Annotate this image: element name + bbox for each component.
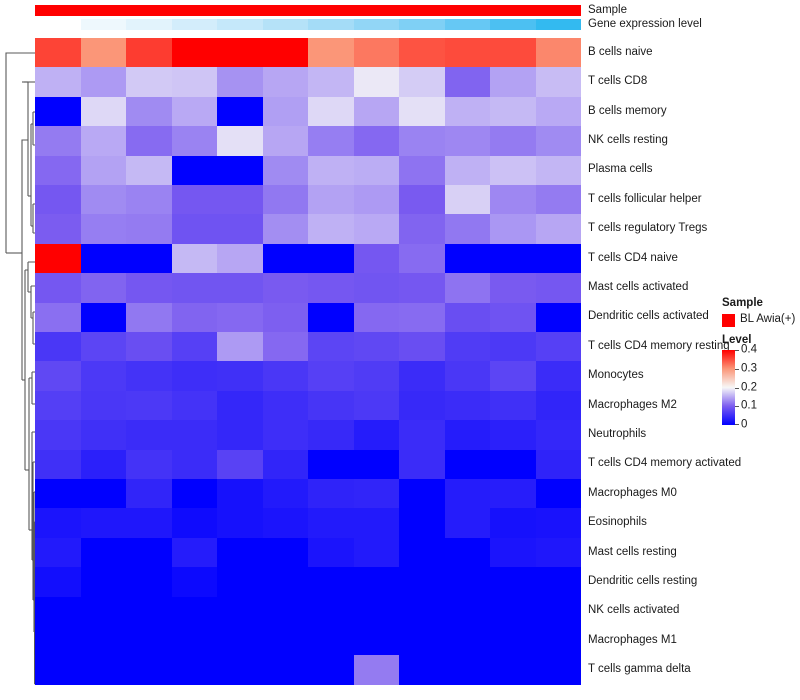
heatmap-cell: [172, 567, 218, 596]
heatmap-cell: [172, 420, 218, 449]
heatmap-cell: [490, 332, 536, 361]
heatmap-cell: [35, 185, 81, 214]
annotation-cell-sample: [399, 5, 445, 16]
heatmap-cell: [308, 508, 354, 537]
heatmap-cell: [536, 538, 582, 567]
annotation-label-sample: Sample: [588, 5, 627, 17]
row-label: Eosinophils: [588, 517, 647, 529]
heatmap-cell: [536, 655, 582, 684]
annotation-bar-gene-expression: [35, 19, 581, 30]
heatmap-cell: [35, 303, 81, 332]
heatmap-cell: [308, 303, 354, 332]
heatmap-cell: [263, 97, 309, 126]
heatmap-cell: [308, 538, 354, 567]
row-label: T cells CD4 memory activated: [588, 458, 741, 470]
heatmap-cell: [35, 156, 81, 185]
annotation-cell-gene-expression: [490, 19, 536, 30]
row-label: Mast cells resting: [588, 547, 677, 559]
heatmap-cell: [399, 655, 445, 684]
heatmap-cell: [217, 97, 263, 126]
heatmap-cell: [217, 332, 263, 361]
annotation-cell-sample: [217, 5, 263, 16]
heatmap-cell: [81, 626, 127, 655]
heatmap-cell: [172, 626, 218, 655]
heatmap-cell: [399, 156, 445, 185]
row-label: NK cells resting: [588, 135, 668, 147]
heatmap-cell: [490, 508, 536, 537]
heatmap-cell: [172, 273, 218, 302]
heatmap-cell: [354, 67, 400, 96]
heatmap-cell: [399, 332, 445, 361]
heatmap-cell: [536, 597, 582, 626]
heatmap-cell: [172, 156, 218, 185]
heatmap-cell: [126, 38, 172, 67]
heatmap-cell: [308, 38, 354, 67]
heatmap-cell: [35, 420, 81, 449]
legend-tick-mark: [735, 406, 739, 407]
row-label: Macrophages M1: [588, 635, 677, 647]
heatmap-cell: [35, 597, 81, 626]
heatmap-cell: [399, 126, 445, 155]
annotation-cell-gene-expression: [126, 19, 172, 30]
heatmap-cell: [308, 273, 354, 302]
heatmap-cell: [217, 391, 263, 420]
heatmap-cell: [81, 214, 127, 243]
heatmap-cell: [445, 244, 491, 273]
legend-swatch-sample: [722, 314, 735, 327]
heatmap-cell: [217, 244, 263, 273]
heatmap-cell: [490, 361, 536, 390]
heatmap-cell: [308, 479, 354, 508]
heatmap-cell: [490, 214, 536, 243]
heatmap-cell: [217, 361, 263, 390]
row-label: B cells memory: [588, 106, 667, 118]
heatmap-cell: [536, 567, 582, 596]
heatmap-cell: [81, 303, 127, 332]
annotation-cell-gene-expression: [308, 19, 354, 30]
heatmap-cell: [172, 38, 218, 67]
heatmap-cell: [399, 508, 445, 537]
legend: Sample BL Awia(+) Level 0.40.30.20.10: [722, 298, 800, 425]
heatmap-cell: [354, 303, 400, 332]
row-label: T cells CD4 naive: [588, 253, 678, 265]
heatmap-cell: [445, 655, 491, 684]
heatmap-cell: [126, 214, 172, 243]
row-label: Macrophages M2: [588, 400, 677, 412]
annotation-cell-sample: [35, 5, 81, 16]
heatmap-cell: [263, 67, 309, 96]
heatmap-cell: [308, 361, 354, 390]
heatmap-cell: [445, 332, 491, 361]
heatmap-cell: [399, 97, 445, 126]
heatmap-cell: [263, 214, 309, 243]
heatmap-cell: [172, 538, 218, 567]
heatmap-cell: [354, 450, 400, 479]
heatmap-cell: [217, 303, 263, 332]
heatmap-cell: [126, 391, 172, 420]
heatmap-cell: [263, 126, 309, 155]
heatmap-cell: [81, 38, 127, 67]
heatmap-cell: [308, 244, 354, 273]
heatmap-cell: [308, 185, 354, 214]
legend-colorbar: [722, 350, 735, 425]
heatmap-cell: [490, 97, 536, 126]
heatmap-cell: [490, 273, 536, 302]
heatmap-cell: [263, 597, 309, 626]
heatmap-cell: [399, 361, 445, 390]
heatmap-cell: [217, 626, 263, 655]
heatmap-cell: [172, 244, 218, 273]
legend-colorbar-wrap: 0.40.30.20.10: [722, 350, 800, 425]
heatmap-cell: [445, 450, 491, 479]
row-label: Macrophages M0: [588, 488, 677, 500]
heatmap-cell: [172, 597, 218, 626]
heatmap-cell: [263, 38, 309, 67]
heatmap-cell: [172, 450, 218, 479]
heatmap-cell: [35, 508, 81, 537]
heatmap-cell: [399, 273, 445, 302]
heatmap-cell: [354, 655, 400, 684]
annotation-cell-sample: [354, 5, 400, 16]
heatmap-cell: [35, 273, 81, 302]
heatmap-cell: [126, 626, 172, 655]
heatmap-cell: [399, 67, 445, 96]
row-label: Dendritic cells activated: [588, 311, 709, 323]
heatmap-cell: [35, 38, 81, 67]
heatmap-cell: [308, 156, 354, 185]
heatmap-cell: [126, 303, 172, 332]
heatmap-cell: [35, 214, 81, 243]
heatmap-cell: [126, 126, 172, 155]
heatmap-cell: [35, 567, 81, 596]
heatmap-cell: [490, 126, 536, 155]
heatmap-cell: [490, 538, 536, 567]
annotation-cell-gene-expression: [81, 19, 127, 30]
heatmap-cell: [308, 597, 354, 626]
heatmap-cell: [35, 332, 81, 361]
heatmap-cell: [354, 538, 400, 567]
heatmap-cell: [445, 185, 491, 214]
heatmap-cell: [263, 361, 309, 390]
legend-title-sample: Sample: [722, 298, 800, 310]
heatmap-cell: [126, 479, 172, 508]
heatmap-cell: [81, 655, 127, 684]
heatmap-cell: [81, 273, 127, 302]
heatmap-cell: [445, 303, 491, 332]
heatmap-cell: [217, 156, 263, 185]
heatmap-cell: [399, 391, 445, 420]
heatmap-cell: [445, 38, 491, 67]
heatmap-cell: [217, 655, 263, 684]
heatmap-cell: [35, 479, 81, 508]
row-label: Plasma cells: [588, 164, 653, 176]
heatmap-cell: [81, 97, 127, 126]
heatmap-cell: [490, 479, 536, 508]
heatmap-cell: [217, 450, 263, 479]
heatmap-cell: [263, 244, 309, 273]
heatmap-cell: [126, 597, 172, 626]
heatmap-cell: [536, 185, 582, 214]
heatmap-cell: [81, 361, 127, 390]
heatmap-cell: [536, 38, 582, 67]
heatmap-cell: [354, 156, 400, 185]
heatmap-cell: [263, 420, 309, 449]
heatmap-cell: [445, 420, 491, 449]
heatmap-cell: [172, 508, 218, 537]
heatmap-cell: [81, 332, 127, 361]
heatmap-cell: [490, 567, 536, 596]
heatmap-cell: [81, 597, 127, 626]
heatmap-cell: [536, 361, 582, 390]
row-label: T cells follicular helper: [588, 194, 702, 206]
heatmap-cell: [126, 361, 172, 390]
heatmap-cell: [490, 655, 536, 684]
row-label: T cells CD8: [588, 76, 647, 88]
heatmap-cell: [172, 332, 218, 361]
heatmap-cell: [536, 273, 582, 302]
heatmap-cell: [126, 508, 172, 537]
heatmap-cell: [263, 479, 309, 508]
heatmap-cell: [445, 597, 491, 626]
heatmap-cell: [354, 479, 400, 508]
heatmap-cell: [126, 332, 172, 361]
heatmap-cell: [126, 273, 172, 302]
heatmap-cell: [445, 126, 491, 155]
heatmap-cell: [536, 67, 582, 96]
heatmap-cell: [490, 303, 536, 332]
heatmap-cell: [490, 156, 536, 185]
legend-tick-label: 0.4: [741, 344, 757, 356]
heatmap-cell: [81, 450, 127, 479]
heatmap-cell: [217, 126, 263, 155]
heatmap-cell: [399, 597, 445, 626]
legend-tick-mark: [735, 369, 739, 370]
annotation-cell-sample: [172, 5, 218, 16]
heatmap-cell: [490, 420, 536, 449]
heatmap-cell: [445, 214, 491, 243]
annotation-cell-gene-expression: [263, 19, 309, 30]
heatmap-cell: [263, 303, 309, 332]
heatmap-cell: [172, 479, 218, 508]
heatmap-cell: [536, 214, 582, 243]
heatmap-cell: [445, 361, 491, 390]
legend-tick-mark: [735, 388, 739, 389]
heatmap-cell: [399, 479, 445, 508]
annotation-cell-gene-expression: [217, 19, 263, 30]
legend-entry-sample: BL Awia(+): [722, 314, 800, 327]
heatmap-cell: [263, 332, 309, 361]
heatmap-cell: [399, 214, 445, 243]
heatmap-cell: [354, 332, 400, 361]
heatmap-cell: [263, 185, 309, 214]
heatmap-cell: [81, 67, 127, 96]
heatmap-cell: [172, 185, 218, 214]
legend-label-sample: BL Awia(+): [740, 314, 795, 326]
heatmap-cell: [172, 67, 218, 96]
heatmap-cell: [81, 567, 127, 596]
heatmap-cell: [354, 97, 400, 126]
heatmap-cell: [217, 38, 263, 67]
heatmap-cell: [399, 538, 445, 567]
heatmap-cell: [536, 97, 582, 126]
heatmap-cell: [126, 244, 172, 273]
heatmap-cell: [536, 391, 582, 420]
heatmap-cell: [172, 303, 218, 332]
heatmap-cell: [445, 508, 491, 537]
heatmap-cell: [263, 156, 309, 185]
heatmap-cell: [354, 273, 400, 302]
heatmap-cell: [35, 391, 81, 420]
annotation-cell-gene-expression: [172, 19, 218, 30]
heatmap-cell: [354, 626, 400, 655]
heatmap-cell: [536, 156, 582, 185]
row-dendrogram: [0, 0, 36, 700]
heatmap-cell: [81, 391, 127, 420]
legend-tick-label: 0.2: [741, 382, 757, 394]
heatmap-cell: [217, 508, 263, 537]
heatmap-cell: [308, 126, 354, 155]
heatmap-cell: [126, 567, 172, 596]
legend-tick-label: 0: [741, 419, 747, 431]
annotation-cell-sample: [81, 5, 127, 16]
annotation-cell-gene-expression: [536, 19, 582, 30]
heatmap-cell: [263, 655, 309, 684]
heatmap-cell: [308, 420, 354, 449]
annotation-label-gene-expression: Gene expression level: [588, 19, 702, 31]
heatmap-cell: [445, 391, 491, 420]
heatmap-cell: [263, 273, 309, 302]
heatmap-cell: [126, 420, 172, 449]
heatmap-cell: [172, 391, 218, 420]
heatmap-cell: [354, 567, 400, 596]
heatmap-cell: [217, 567, 263, 596]
row-label: B cells naive: [588, 47, 653, 59]
heatmap-cell: [81, 156, 127, 185]
heatmap-cell: [217, 420, 263, 449]
heatmap-cell: [354, 508, 400, 537]
heatmap-cell: [126, 156, 172, 185]
heatmap-cell: [445, 538, 491, 567]
heatmap-cell: [354, 214, 400, 243]
heatmap-cell: [81, 508, 127, 537]
heatmap-cell: [35, 97, 81, 126]
heatmap-cell: [490, 626, 536, 655]
heatmap-cell: [354, 361, 400, 390]
heatmap-cell: [445, 273, 491, 302]
heatmap-cell: [217, 67, 263, 96]
heatmap-cell: [172, 361, 218, 390]
annotation-bar-sample: [35, 5, 581, 16]
heatmap-matrix: [35, 38, 581, 685]
heatmap-cell: [536, 303, 582, 332]
heatmap-cell: [81, 538, 127, 567]
heatmap-cell: [126, 185, 172, 214]
heatmap-cell: [308, 450, 354, 479]
heatmap-cell: [354, 391, 400, 420]
heatmap-cell: [490, 450, 536, 479]
heatmap-cell: [445, 97, 491, 126]
row-label: Neutrophils: [588, 429, 646, 441]
heatmap-cell: [81, 244, 127, 273]
heatmap-cell: [217, 214, 263, 243]
heatmap-cell: [35, 538, 81, 567]
heatmap-cell: [445, 156, 491, 185]
heatmap-cell: [536, 420, 582, 449]
heatmap-cell: [81, 126, 127, 155]
heatmap-cell: [399, 626, 445, 655]
annotation-cell-sample: [308, 5, 354, 16]
legend-tick-mark: [735, 350, 739, 351]
heatmap-cell: [536, 244, 582, 273]
heatmap-cell: [35, 361, 81, 390]
annotation-cell-sample: [126, 5, 172, 16]
heatmap-figure: Sample Gene expression level B cells nai…: [0, 0, 800, 700]
legend-level-block: Level 0.40.30.20.10: [722, 335, 800, 426]
legend-tick-label: 0.3: [741, 363, 757, 375]
annotation-cell-sample: [445, 5, 491, 16]
row-label: Dendritic cells resting: [588, 576, 697, 588]
heatmap-cell: [536, 479, 582, 508]
heatmap-cell: [126, 538, 172, 567]
heatmap-cell: [81, 420, 127, 449]
row-label: T cells CD4 memory resting: [588, 341, 730, 353]
heatmap-cell: [308, 655, 354, 684]
heatmap-cell: [308, 391, 354, 420]
heatmap-cell: [536, 626, 582, 655]
heatmap-cell: [308, 97, 354, 126]
annotation-cell-gene-expression: [399, 19, 445, 30]
heatmap-cell: [126, 97, 172, 126]
heatmap-cell: [35, 655, 81, 684]
heatmap-cell: [172, 214, 218, 243]
heatmap-cell: [445, 479, 491, 508]
legend-title-level: Level: [722, 335, 800, 347]
heatmap-cell: [172, 97, 218, 126]
heatmap-cell: [354, 420, 400, 449]
annotation-cell-sample: [536, 5, 582, 16]
heatmap-cell: [217, 273, 263, 302]
heatmap-cell: [354, 126, 400, 155]
heatmap-cell: [81, 479, 127, 508]
heatmap-cell: [308, 67, 354, 96]
row-label: T cells regulatory Tregs: [588, 223, 707, 235]
heatmap-cell: [490, 185, 536, 214]
heatmap-cell: [172, 655, 218, 684]
heatmap-cell: [35, 67, 81, 96]
heatmap-cell: [354, 38, 400, 67]
heatmap-cell: [445, 626, 491, 655]
annotation-cell-sample: [263, 5, 309, 16]
heatmap-cell: [263, 391, 309, 420]
heatmap-cell: [35, 244, 81, 273]
heatmap-cell: [354, 185, 400, 214]
heatmap-cell: [263, 450, 309, 479]
heatmap-cell: [490, 38, 536, 67]
heatmap-cell: [263, 567, 309, 596]
heatmap-cell: [126, 450, 172, 479]
heatmap-cell: [263, 538, 309, 567]
row-label: NK cells activated: [588, 605, 679, 617]
heatmap-cell: [536, 508, 582, 537]
heatmap-cell: [217, 185, 263, 214]
heatmap-cell: [399, 244, 445, 273]
heatmap-cell: [217, 597, 263, 626]
heatmap-cell: [263, 626, 309, 655]
annotation-cell-gene-expression: [35, 19, 81, 30]
heatmap-cell: [490, 67, 536, 96]
heatmap-cell: [308, 332, 354, 361]
heatmap-cell: [217, 538, 263, 567]
